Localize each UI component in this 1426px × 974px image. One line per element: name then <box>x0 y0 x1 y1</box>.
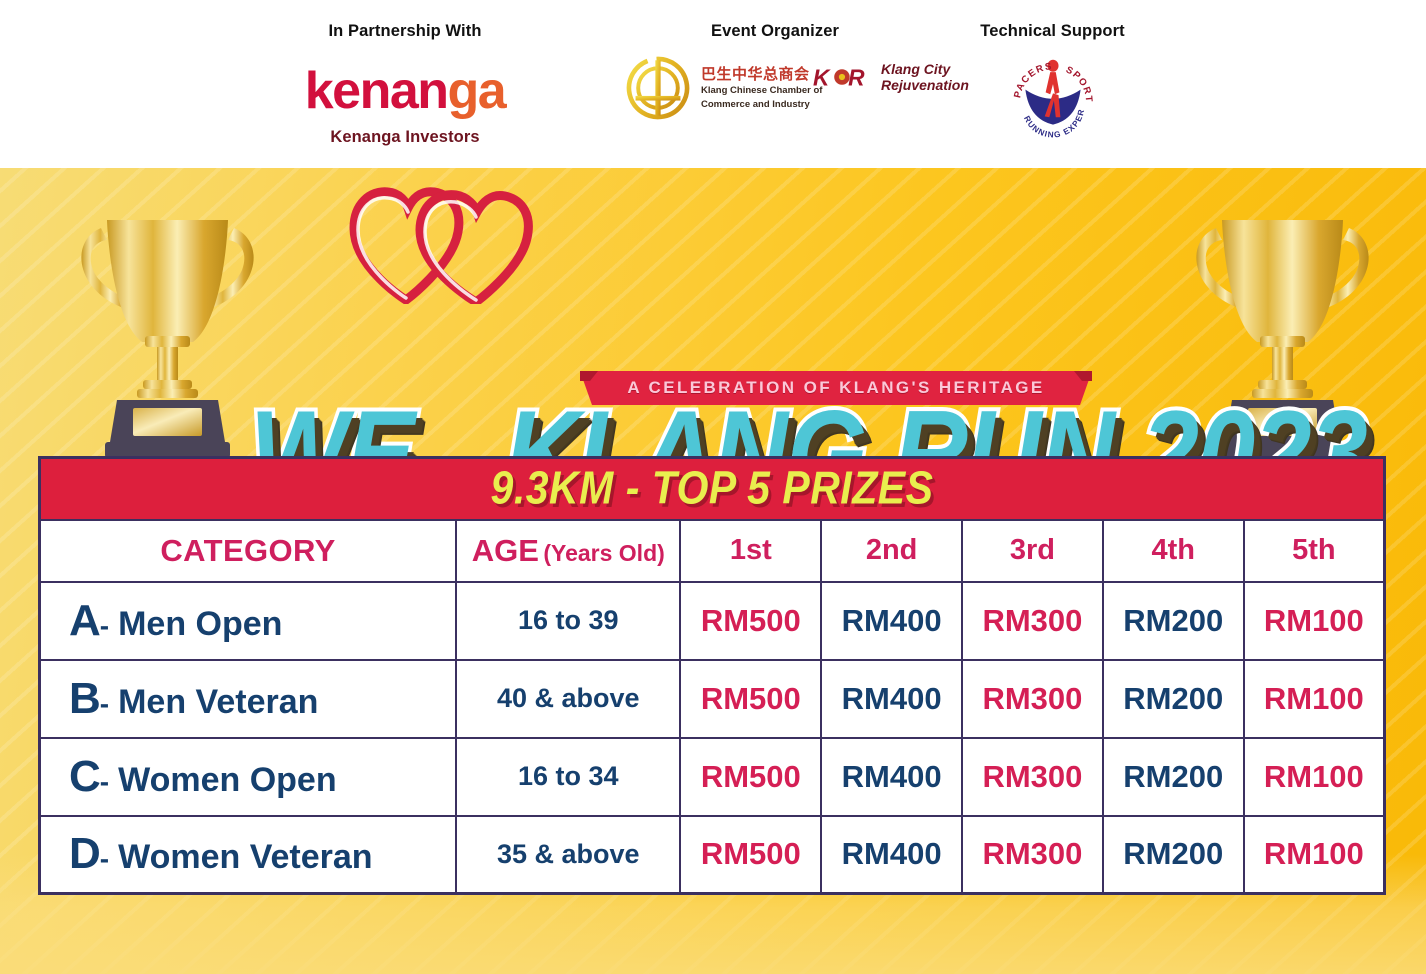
row-1-letter: B <box>69 674 100 723</box>
svg-text:PACERS: PACERS <box>1012 61 1053 99</box>
svg-text:K: K <box>813 64 831 90</box>
row-1-prize-5: RM100 <box>1244 660 1385 738</box>
row-2-category: C-Women Open <box>40 738 457 816</box>
row-3-prize-1: RM500 <box>680 816 821 894</box>
row-1-prize-2: RM400 <box>821 660 962 738</box>
kenanga-logo-part2: ga <box>448 62 506 120</box>
row-1-dash: - <box>100 688 109 719</box>
header-rank-4: 4th <box>1103 520 1244 582</box>
header-rank-2: 2nd <box>821 520 962 582</box>
header-rank-5-label: 5th <box>1292 534 1336 566</box>
row-1-prize-3: RM300 <box>962 660 1103 738</box>
row-3-prize-3: RM300 <box>962 816 1103 894</box>
row-3-category: D-Women Veteran <box>40 816 457 894</box>
header-age-unit: (Years Old) <box>543 540 664 566</box>
row-2-name: Women Open <box>118 761 337 799</box>
row-2-dash: - <box>100 766 109 797</box>
partner-heading: In Partnership With <box>255 22 555 41</box>
row-3-letter: D <box>69 829 100 878</box>
row-0-prize-4: RM200 <box>1103 582 1244 660</box>
pacers-sport-icon: PACERS SPORT RUNNING EXPERT <box>1007 51 1099 143</box>
row-3-prize-4: RM200 <box>1103 816 1244 894</box>
row-0-letter: A <box>69 596 100 645</box>
kenanga-logo: kenanga <box>255 65 555 117</box>
row-2-letter: C <box>69 752 100 801</box>
row-0-age: 16 to 39 <box>456 582 680 660</box>
ribbon-text: A CELEBRATION OF KLANG'S HERITAGE <box>580 371 1092 405</box>
row-1-prize-1: RM500 <box>680 660 821 738</box>
row-1-age: 40 & above <box>456 660 680 738</box>
sponsor-partner-column: In Partnership With kenanga Kenanga Inve… <box>255 22 555 147</box>
header-rank-2-label: 2nd <box>866 534 918 566</box>
row-2-prize-3: RM300 <box>962 738 1103 816</box>
row-2-prize-1: RM500 <box>680 738 821 816</box>
table-row: A-Men Open 16 to 39 RM500 RM400 RM300 RM… <box>40 582 1385 660</box>
row-2-prize-2: RM400 <box>821 738 962 816</box>
header-rank-3-label: 3rd <box>1010 534 1055 566</box>
kcr-mark-icon: K R <box>812 58 874 96</box>
row-1-prize-4: RM200 <box>1103 660 1244 738</box>
row-3-prize-2: RM400 <box>821 816 962 894</box>
header-category-label: CATEGORY <box>160 533 335 568</box>
header-rank-3: 3rd <box>962 520 1103 582</box>
kccci-chinese-name: 巴生中华总商会 <box>701 66 822 83</box>
prize-table-header-row: CATEGORY AGE (Years Old) 1st 2nd 3rd 4th… <box>40 520 1385 582</box>
row-0-prize-5: RM100 <box>1244 582 1385 660</box>
kccci-english-line1: Klang Chinese Chamber of <box>701 85 822 97</box>
row-3-name: Women Veteran <box>118 838 372 876</box>
row-2-age: 16 to 34 <box>456 738 680 816</box>
row-0-category: A-Men Open <box>40 582 457 660</box>
header-age-label: AGE <box>472 533 539 568</box>
table-row: C-Women Open 16 to 34 RM500 RM400 RM300 … <box>40 738 1385 816</box>
row-3-prize-5: RM100 <box>1244 816 1385 894</box>
svg-text:R: R <box>848 64 865 90</box>
kccci-english-line2: Commerce and Industry <box>701 99 822 111</box>
kenanga-sublabel: Kenanga Investors <box>255 128 555 147</box>
sponsor-support-column: Technical Support PACERS SPORT RUNNIN <box>935 22 1170 143</box>
poster-body: A CELEBRATION OF KLANG'S HERITAGE WE KLA… <box>0 168 1426 974</box>
double-heart-icon <box>348 172 538 304</box>
row-0-dash: - <box>100 610 109 641</box>
row-3-dash: - <box>100 843 109 874</box>
heritage-ribbon: A CELEBRATION OF KLANG'S HERITAGE <box>580 371 1092 405</box>
prize-table-banner-row: 9.3KM - TOP 5 PRIZES <box>40 458 1385 520</box>
table-row: D-Women Veteran 35 & above RM500 RM400 R… <box>40 816 1385 894</box>
row-0-name: Men Open <box>118 605 282 643</box>
header-rank-5: 5th <box>1244 520 1385 582</box>
header-rank-1-label: 1st <box>730 534 772 566</box>
row-1-category: B-Men Veteran <box>40 660 457 738</box>
kenanga-logo-part1: kenan <box>305 62 448 120</box>
header-rank-4-label: 4th <box>1152 534 1196 566</box>
sponsor-strip: In Partnership With kenanga Kenanga Inve… <box>0 0 1426 168</box>
row-2-prize-4: RM200 <box>1103 738 1244 816</box>
table-row: B-Men Veteran 40 & above RM500 RM400 RM3… <box>40 660 1385 738</box>
kccci-emblem-icon <box>625 55 691 121</box>
prize-table-banner-cell: 9.3KM - TOP 5 PRIZES <box>40 458 1385 520</box>
organizer-heading: Event Organizer <box>625 22 925 41</box>
row-0-prize-1: RM500 <box>680 582 821 660</box>
header-category: CATEGORY <box>40 520 457 582</box>
prize-table-banner-text: 9.3KM - TOP 5 PRIZES <box>491 466 934 512</box>
row-1-name: Men Veteran <box>118 683 318 721</box>
row-0-prize-2: RM400 <box>821 582 962 660</box>
header-rank-1: 1st <box>680 520 821 582</box>
row-2-prize-5: RM100 <box>1244 738 1385 816</box>
row-3-age: 35 & above <box>456 816 680 894</box>
header-age: AGE (Years Old) <box>456 520 680 582</box>
row-0-prize-3: RM300 <box>962 582 1103 660</box>
support-heading: Technical Support <box>935 22 1170 41</box>
prize-table: 9.3KM - TOP 5 PRIZES CATEGORY AGE (Years… <box>38 456 1386 895</box>
